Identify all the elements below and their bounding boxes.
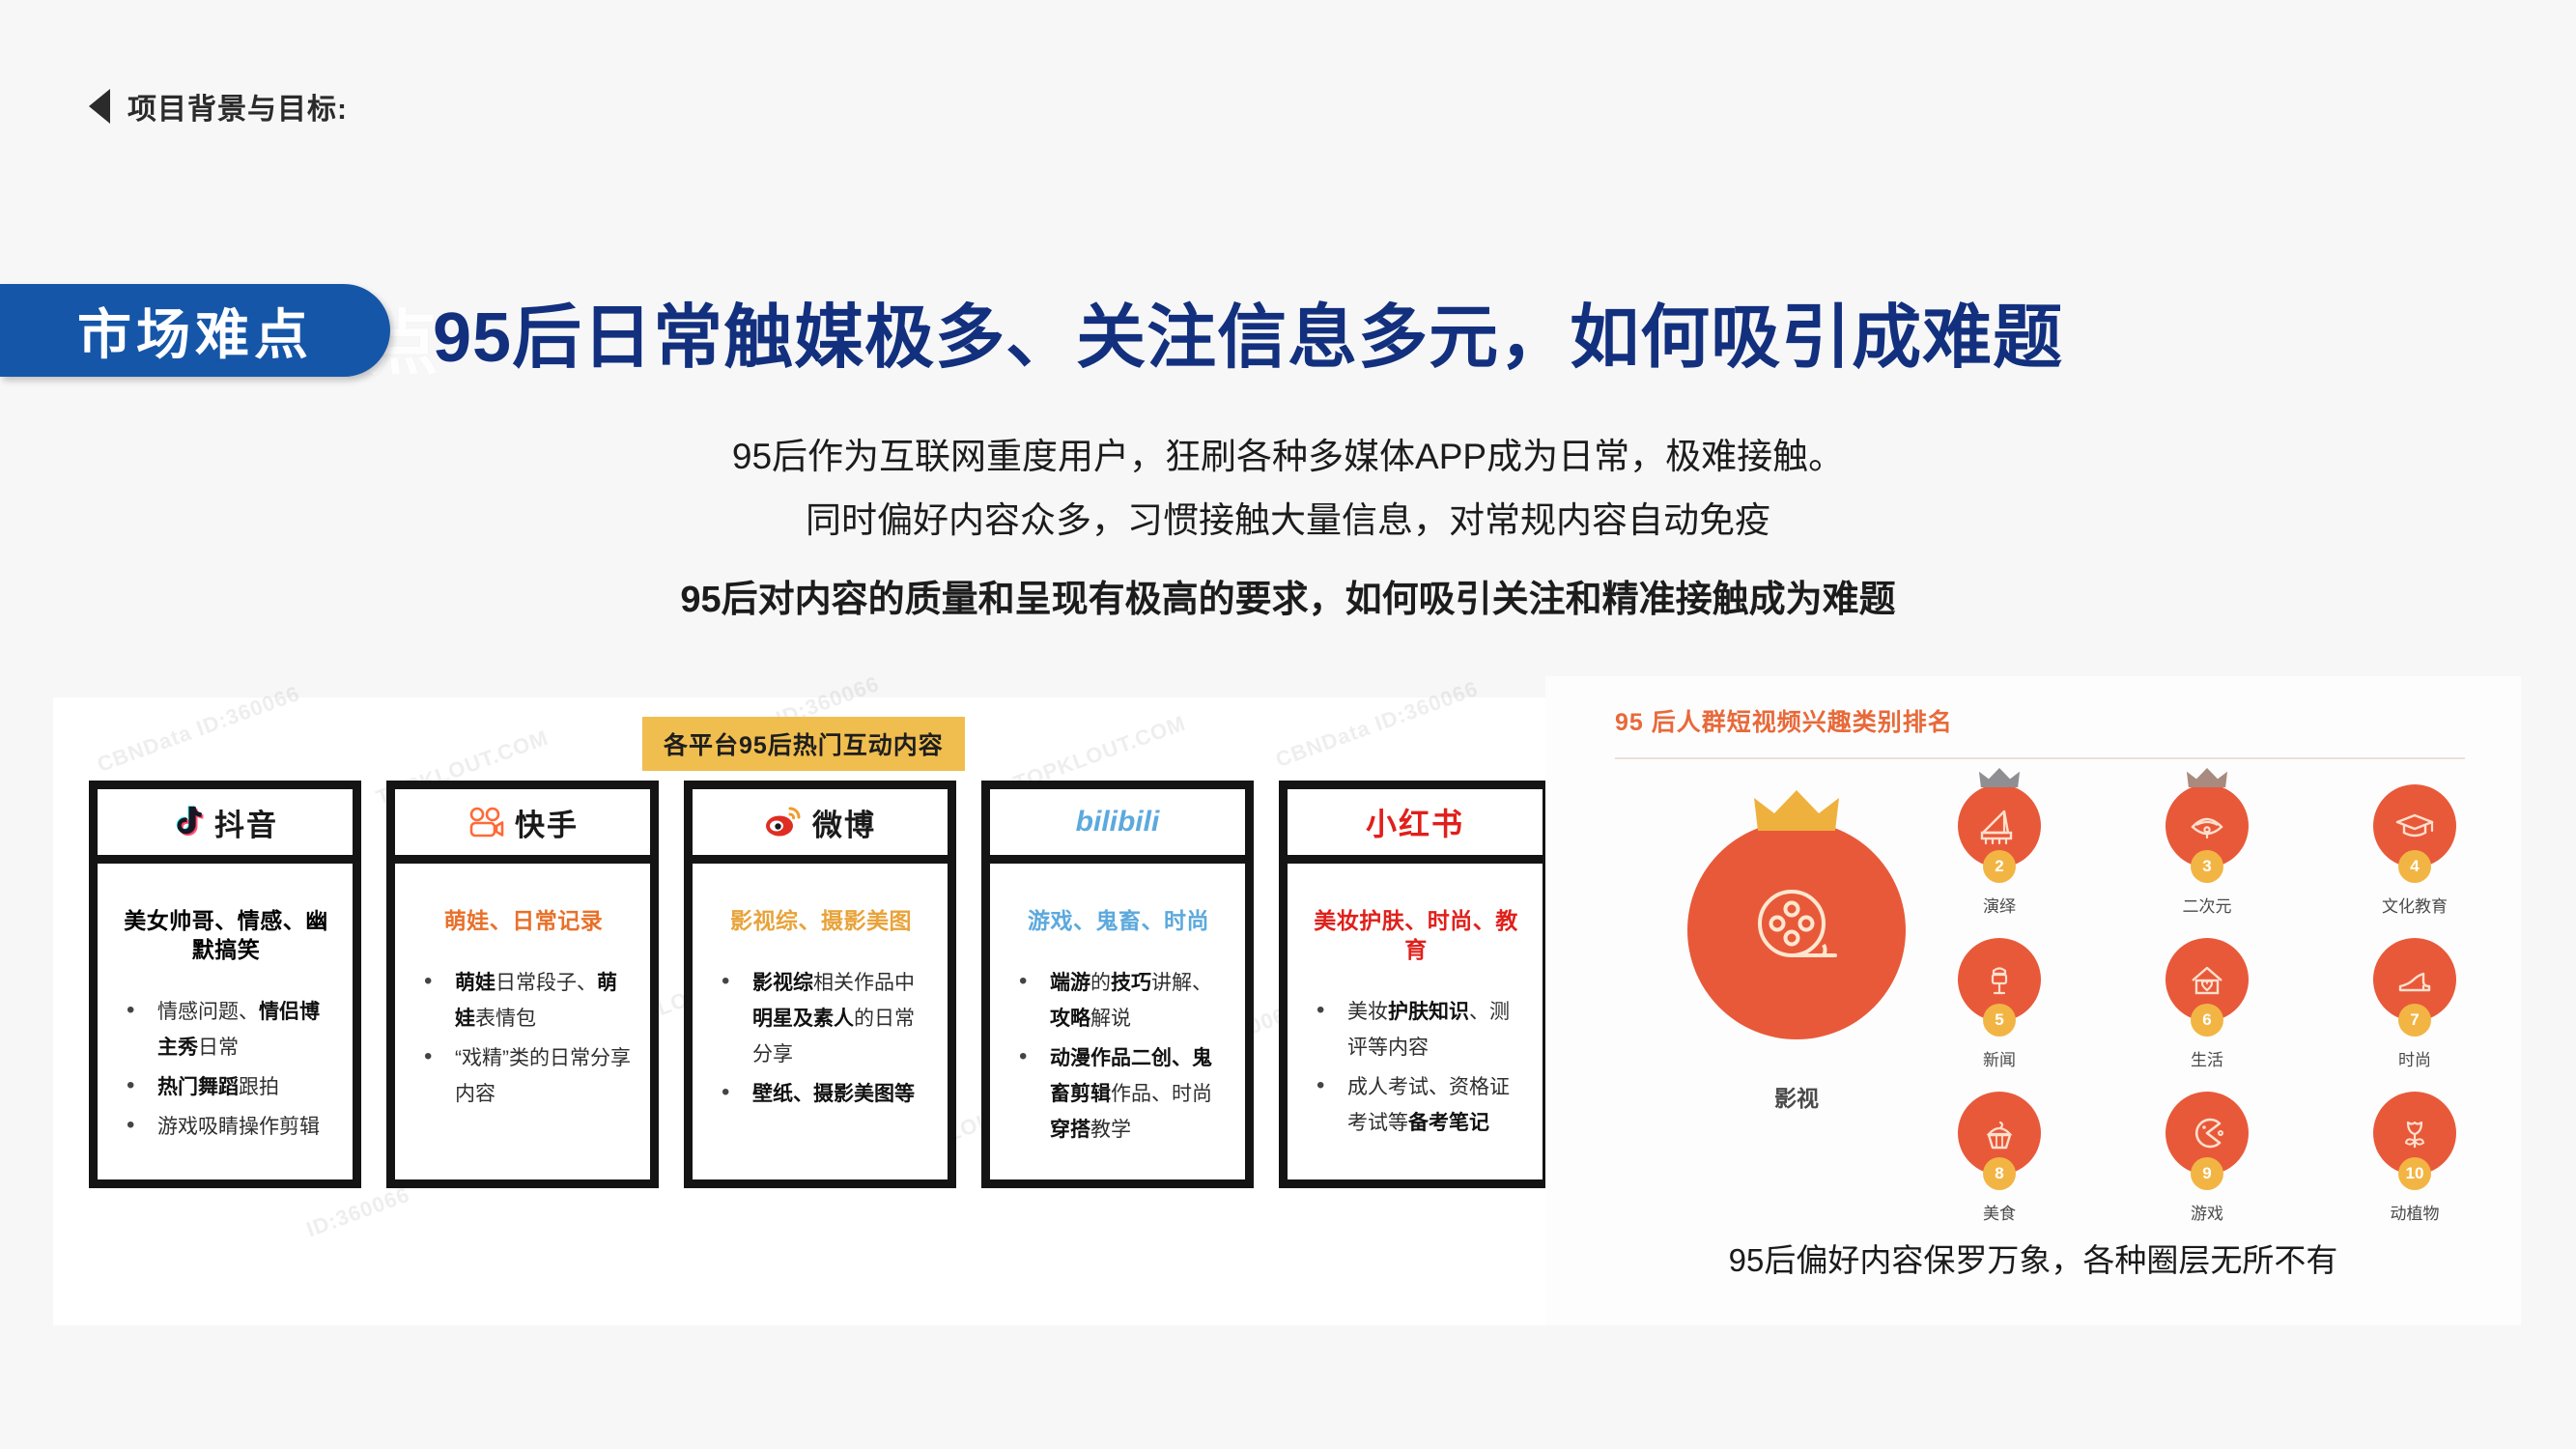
platform-card-bilibili[interactable]: bilibili 游戏、鬼畜、时尚 端游的技巧讲解、攻略解说 动漫作品二创、鬼畜…	[981, 781, 1254, 1188]
rank-item-9[interactable]: 9 游戏	[2125, 1092, 2289, 1224]
platform-logo-label: 快手	[515, 801, 579, 844]
subtitle-block: 95后作为互联网重度用户，狂刷各种多媒体APP成为日常，极难接触。 同时偏好内容…	[0, 425, 2576, 632]
rank-circle	[1687, 821, 1906, 1039]
market-difficulty-badge: 市场难点	[0, 284, 390, 377]
platform-logo-box: 抖音	[89, 781, 361, 864]
subtitle-line-3: 95后对内容的质量和呈现有极高的要求，如何吸引关注和精准接触成为难题	[0, 568, 2576, 632]
rank-row-3: 8 美食	[1917, 1092, 2497, 1224]
title-band: 市场难点 95后日常触媒极多、关注信息多元，如何吸引成难题	[0, 282, 2576, 379]
card-bullet-list: 情感问题、情侣博主秀日常 热门舞蹈跟拍 游戏吸睛操作剪辑	[119, 994, 333, 1145]
pacman-icon	[2183, 1109, 2231, 1157]
platform-card-kuaishou[interactable]: 快手 萌娃、日常记录 萌娃日常段子、萌娃表情包 “戏精”类的日常分享内容	[386, 781, 659, 1188]
rank-medal: 8	[1983, 1157, 2016, 1190]
rank-row-1: 2 演绎	[1917, 784, 2497, 917]
rank-item-6[interactable]: 6 生活	[2125, 938, 2289, 1070]
douyin-logo-icon	[172, 804, 205, 840]
platform-logo-label: bilibili	[1076, 806, 1160, 838]
rank-medal: 2	[1983, 850, 2016, 883]
subtitle-line-2: 同时偏好内容众多，习惯接触大量信息，对常规内容自动免疫	[0, 489, 2576, 553]
rank-item-4[interactable]: 4 文化教育	[2333, 784, 2497, 917]
section-header: 项目背景与目标:	[89, 85, 348, 128]
weibo-logo-icon	[764, 806, 803, 838]
rank-item-7[interactable]: 7 时尚	[2333, 938, 2497, 1070]
rank-label: 演绎	[1917, 893, 2081, 917]
card-heading: 美女帅哥、情感、幽默搞笑	[119, 907, 333, 965]
rank-medal: 6	[2191, 1004, 2223, 1037]
platform-logo-box: 快手	[386, 781, 659, 864]
subtitle-line-1: 95后作为互联网重度用户，狂刷各种多媒体APP成为日常，极难接触。	[0, 425, 2576, 489]
rank-medal: 9	[2191, 1157, 2223, 1190]
card-heading: 影视综、摄影美图	[714, 907, 928, 936]
list-item: 美妆护肤知识、测评等内容	[1309, 994, 1523, 1065]
platform-logo-box: 小红书	[1279, 781, 1551, 864]
platform-logo-label: 小红书	[1366, 800, 1464, 844]
platform-card-xiaohongshu[interactable]: 小红书 美妆护肤、时尚、教育 美妆护肤知识、测评等内容 成人考试、资格证考试等备…	[1279, 781, 1551, 1188]
piano-icon	[1975, 802, 2024, 850]
card-heading: 游戏、鬼畜、时尚	[1011, 907, 1226, 936]
rank-item-1[interactable]: 影视	[1637, 821, 1956, 1113]
rank-item-10[interactable]: 10 动植物	[2333, 1092, 2497, 1224]
rank-item-8[interactable]: 8 美食	[1917, 1092, 2081, 1224]
triangle-left-icon	[89, 89, 110, 124]
interaction-content-banner: 各平台95后热门互动内容	[642, 717, 965, 771]
platform-card-weibo[interactable]: 微博 影视综、摄影美图 影视综相关作品中明星及素人的日常分享 壁纸、摄影美图等	[684, 781, 956, 1188]
rank-medal: 7	[2398, 1004, 2431, 1037]
list-item: 成人考试、资格证考试等备考笔记	[1309, 1069, 1523, 1141]
rank-panel-divider	[1615, 757, 2465, 759]
tulip-icon	[2391, 1109, 2439, 1157]
list-item: 壁纸、摄影美图等	[714, 1076, 928, 1112]
rank-label: 影视	[1637, 1080, 1956, 1113]
list-item: 萌娃日常段子、萌娃表情包	[416, 965, 631, 1037]
kuaishou-logo-icon	[467, 807, 505, 838]
platform-card-douyin[interactable]: 抖音 美女帅哥、情感、幽默搞笑 情感问题、情侣博主秀日常 热门舞蹈跟拍 游戏吸睛…	[89, 781, 361, 1188]
rank-label: 文化教育	[2333, 893, 2497, 917]
rank-item-3[interactable]: 3 二次元	[2125, 784, 2289, 917]
crown-icon	[1978, 767, 2021, 788]
crown-icon	[2186, 767, 2228, 788]
rank-label: 二次元	[2125, 893, 2289, 917]
card-bullet-list: 影视综相关作品中明星及素人的日常分享 壁纸、摄影美图等	[714, 965, 928, 1112]
graduation-cap-icon	[2391, 802, 2439, 850]
list-item: 情感问题、情侣博主秀日常	[119, 994, 333, 1065]
rank-label: 时尚	[2333, 1046, 2497, 1070]
platform-logo-label: 抖音	[214, 801, 278, 844]
rank-item-5[interactable]: 5 新闻	[1917, 938, 2081, 1070]
rank-grid: 2 演绎	[1917, 784, 2497, 1245]
rank-label: 新闻	[1917, 1046, 2081, 1070]
page-title: 95后日常触媒极多、关注信息多元，如何吸引成难题	[433, 280, 2063, 382]
rank-label: 动植物	[2333, 1200, 2497, 1224]
anime-face-icon	[2183, 802, 2231, 850]
rank-label: 生活	[2125, 1046, 2289, 1070]
card-bullet-list: 萌娃日常段子、萌娃表情包 “戏精”类的日常分享内容	[416, 965, 631, 1112]
list-item: 热门舞蹈跟拍	[119, 1069, 333, 1105]
card-bullet-list: 端游的技巧讲解、攻略解说 动漫作品二创、鬼畜剪辑作品、时尚穿搭教学	[1011, 965, 1226, 1148]
platform-logo-box: bilibili	[981, 781, 1254, 864]
rank-medal: 10	[2398, 1157, 2431, 1190]
rank-panel: 95 后人群短视频兴趣类别排名	[1545, 676, 2521, 1325]
rank-medal: 5	[1983, 1004, 2016, 1037]
high-heel-icon	[2391, 955, 2439, 1004]
section-header-label: 项目背景与目标:	[127, 85, 348, 128]
platform-logo-label: 微博	[812, 801, 876, 844]
rank-item-2[interactable]: 2 演绎	[1917, 784, 2081, 917]
list-item: 动漫作品二创、鬼畜剪辑作品、时尚穿搭教学	[1011, 1040, 1226, 1148]
list-item: 端游的技巧讲解、攻略解说	[1011, 965, 1226, 1037]
card-bullet-list: 美妆护肤知识、测评等内容 成人考试、资格证考试等备考笔记	[1309, 994, 1523, 1141]
list-item: 影视综相关作品中明星及素人的日常分享	[714, 965, 928, 1072]
rank-row-2: 5 新闻	[1917, 938, 2497, 1070]
rank-panel-caption: 95后偏好内容保罗万象，各种圈层无所不有	[1545, 1235, 2521, 1281]
film-reel-icon	[1743, 877, 1850, 983]
rank-medal: 4	[2398, 850, 2431, 883]
rank-medal: 3	[2191, 850, 2223, 883]
badge-label: 市场难点	[77, 292, 313, 370]
rank-label: 美食	[1917, 1200, 2081, 1224]
rank-label: 游戏	[2125, 1200, 2289, 1224]
platform-logo-box: 微博	[684, 781, 956, 864]
list-item: “戏精”类的日常分享内容	[416, 1040, 631, 1112]
slide-root: 项目背景与目标: 点 市场难点 95后日常触媒极多、关注信息多元，如何吸引成难题…	[0, 0, 2576, 1449]
house-heart-icon	[2183, 955, 2231, 1004]
platform-card-list: 抖音 美女帅哥、情感、幽默搞笑 情感问题、情侣博主秀日常 热门舞蹈跟拍 游戏吸睛…	[0, 676, 1565, 1333]
cupcake-icon	[1975, 1109, 2024, 1157]
list-item: 游戏吸睛操作剪辑	[119, 1109, 333, 1145]
card-heading: 美妆护肤、时尚、教育	[1309, 907, 1523, 965]
card-heading: 萌娃、日常记录	[416, 907, 631, 936]
rank-panel-title: 95 后人群短视频兴趣类别排名	[1615, 703, 1953, 738]
reporter-icon	[1975, 955, 2024, 1004]
crown-icon	[1752, 788, 1841, 833]
